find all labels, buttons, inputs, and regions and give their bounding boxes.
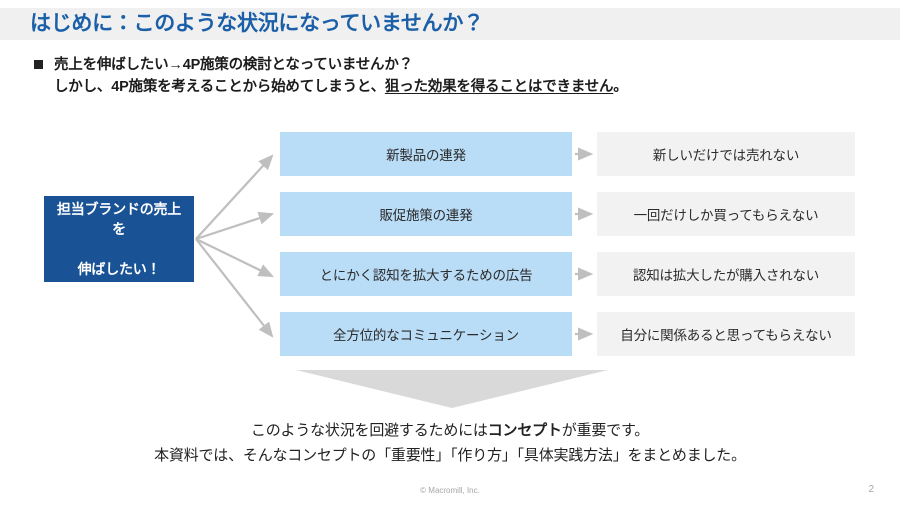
tactic-box-1-label: 新製品の連発: [386, 144, 466, 164]
tactic-box-4: 全方位的なコミュニケーション: [280, 312, 572, 356]
tactic-box-3-label: とにかく認知を拡大するための広告: [320, 264, 533, 284]
closing-line-2: 本資料では、そんなコンセプトの「重要性」「作り方」「具体実践方法」をまとめました…: [70, 443, 830, 468]
tactic-box-3: とにかく認知を拡大するための広告: [280, 252, 572, 296]
source-box-line-1: 担当ブランドの売上を: [50, 199, 188, 239]
tactic-box-2-label: 販促施策の連発: [379, 204, 472, 224]
outcome-box-4: 自分に関係あると思ってもらえない: [597, 312, 855, 356]
outcome-box-3: 認知は拡大したが購入されない: [597, 252, 855, 296]
tactic-box-4-label: 全方位的なコミュニケーション: [333, 324, 519, 344]
page-number: 2: [868, 484, 874, 495]
outcome-box-2: 一回だけしか買ってもらえない: [597, 192, 855, 236]
bullet-line-2-emphasis: 狙った効果を得ることはできません: [385, 79, 613, 95]
closing-line-1-emphasis: コンセプト: [488, 422, 562, 439]
bullet-line-1: 売上を伸ばしたい→4P施策の検討となっていませんか？: [54, 57, 413, 73]
square-bullet-icon: [34, 60, 43, 69]
bullet-line-2-prefix: しかし、4P施策を考えることから始めてしまうと、: [54, 79, 385, 95]
slide-canvas: はじめに：このような状況になっていませんか？ 売上を伸ばしたい→4P施策の検討と…: [0, 0, 900, 506]
closing-line-1-suffix: が重要です。: [562, 422, 649, 439]
bullet-text: 売上を伸ばしたい→4P施策の検討となっていませんか？ しかし、4P施策を考えるこ…: [54, 54, 854, 98]
bullet-line-2-suffix: 。: [613, 79, 627, 95]
outcome-box-2-label: 一回だけしか買ってもらえない: [634, 204, 819, 224]
outcome-box-3-label: 認知は拡大したが購入されない: [633, 264, 819, 284]
tactic-box-1: 新製品の連発: [280, 132, 572, 176]
outcome-box-1: 新しいだけでは売れない: [597, 132, 855, 176]
outcome-box-1-label: 新しいだけでは売れない: [653, 144, 799, 164]
copyright-notice: © Macromill, Inc.: [0, 486, 900, 495]
down-arrow-icon: [296, 370, 608, 408]
outcome-box-4-label: 自分に関係あると思ってもらえない: [620, 324, 831, 344]
tactic-box-2: 販促施策の連発: [280, 192, 572, 236]
closing-line-1: このような状況を回避するためにはコンセプトが重要です。: [251, 422, 649, 439]
bullet-line-2: しかし、4P施策を考えることから始めてしまうと、狙った効果を得ることはできません…: [54, 76, 854, 98]
source-box-line-2: 伸ばしたい！: [50, 259, 188, 279]
source-box: 担当ブランドの売上を伸ばしたい！: [44, 196, 194, 282]
page-title: はじめに：このような状況になっていませんか？: [30, 9, 860, 39]
closing-text: このような状況を回避するためにはコンセプトが重要です。 本資料では、そんなコンセ…: [70, 418, 830, 468]
closing-line-1-prefix: このような状況を回避するためには: [251, 422, 488, 439]
source-box-text: 担当ブランドの売上を伸ばしたい！: [44, 199, 194, 279]
